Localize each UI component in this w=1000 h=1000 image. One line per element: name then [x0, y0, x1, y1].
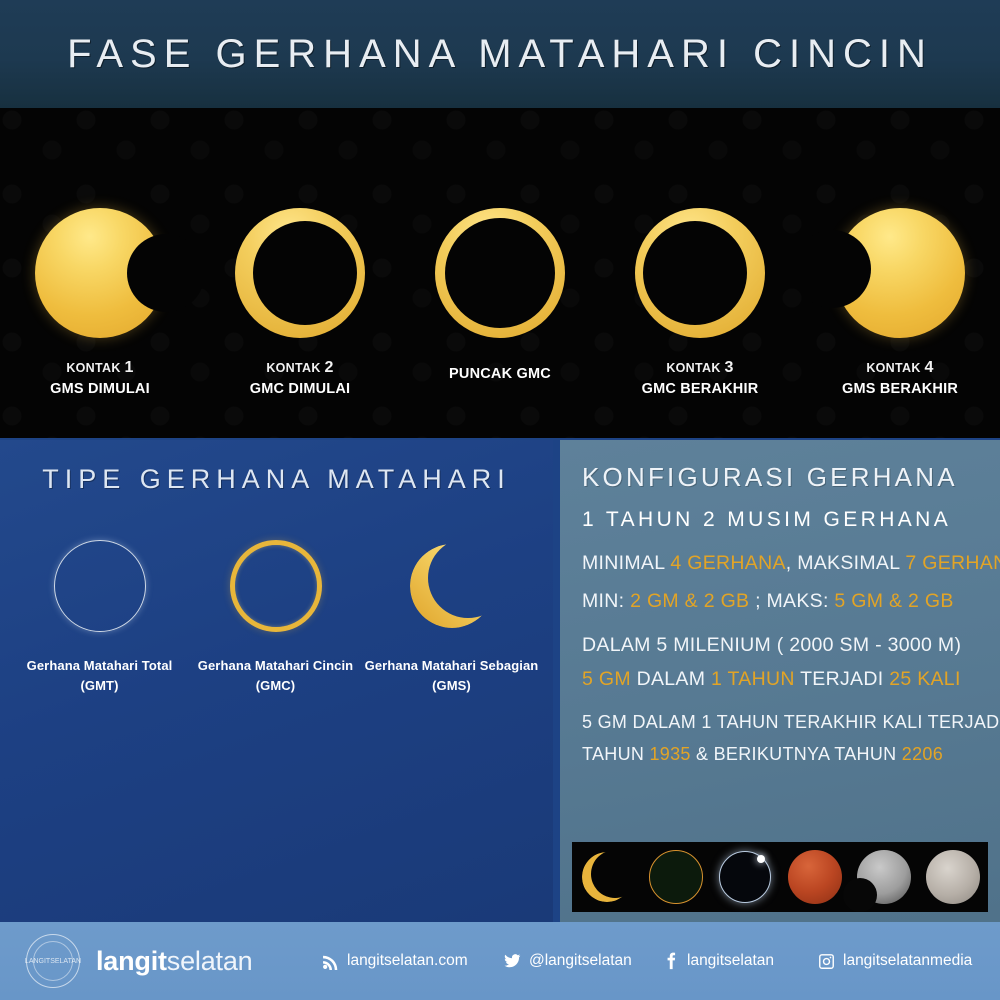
social-facebook-label: langitselatan — [687, 952, 774, 970]
phase-label: GMC BERAKHIR — [642, 379, 759, 400]
eclipse-type-name: Gerhana Matahari Cincin — [198, 656, 353, 676]
photo-partial-solar-crescent — [578, 848, 636, 906]
photo-total-lunar-blood-moon — [786, 848, 844, 906]
config-panel-subtitle: 1 TAHUN 2 MUSIM GERHANA — [582, 508, 951, 532]
gold-crescent-icon — [406, 540, 498, 632]
facebook-icon — [663, 952, 679, 970]
config-line-4: 5 GM DALAM 1 TAHUN TERJADI 25 KALI — [582, 668, 961, 691]
langitselatan-logo-icon: LANGITSELATAN — [26, 934, 80, 988]
phase-label: GMC DIMULAI — [250, 379, 350, 400]
phase-contact-number: 3 — [724, 359, 733, 376]
instagram-icon — [818, 953, 835, 970]
eclipse-phases-strip: KONTAK 1 GMS DIMULAI KONTAK 2 GMC DIMULA… — [0, 108, 1000, 438]
config-line-3: DALAM 5 MILENIUM ( 2000 SM - 3000 M) — [582, 634, 961, 657]
phase-contact-label: KONTAK — [266, 361, 320, 375]
config-line-5: 5 GM DALAM 1 TAHUN TERAKHIR KALI TERJADI — [582, 712, 1000, 734]
photo-full-moon — [924, 848, 982, 906]
phase-contact-number: 1 — [124, 359, 133, 376]
footer-bar: LANGITSELATAN langitselatan langitselata… — [0, 922, 1000, 1000]
brand-light: selatan — [167, 946, 253, 976]
social-instagram-label: langitselatanmedia — [843, 952, 972, 970]
types-panel-title: TIPE GERHANA MATAHARI — [0, 464, 553, 495]
ring-even-icon — [435, 208, 565, 338]
eclipse-type-annular: Gerhana Matahari Cincin (GMC) — [188, 540, 363, 695]
phase-item-1: KONTAK 1 GMS DIMULAI — [0, 108, 200, 438]
phase-contact-number: 4 — [924, 359, 933, 376]
infographic-page: FASE GERHANA MATAHARI CINCIN KONTAK 1 GM… — [0, 0, 1000, 1000]
phase-item-4: KONTAK 3 GMC BERAKHIR — [600, 108, 800, 438]
phase-contact-label: KONTAK — [66, 361, 120, 375]
eclipse-type-abbr: (GMT) — [27, 676, 173, 696]
social-facebook[interactable]: langitselatan — [663, 952, 774, 970]
phase-item-3: PUNCAK GMC — [400, 108, 600, 438]
eclipse-types-panel: TIPE GERHANA MATAHARI Gerhana Matahari T… — [0, 440, 553, 922]
eclipse-configuration-panel: KONFIGURASI GERHANA 1 TAHUN 2 MUSIM GERH… — [560, 440, 1000, 922]
phase-contact-label: KONTAK — [866, 361, 920, 375]
social-website-label: langitselatan.com — [347, 952, 468, 970]
sun-bite-left-icon — [835, 208, 965, 338]
page-title: FASE GERHANA MATAHARI CINCIN — [67, 32, 933, 77]
social-instagram[interactable]: langitselatanmedia — [818, 952, 972, 970]
phase-label: GMS DIMULAI — [50, 379, 150, 400]
eclipse-type-name: Gerhana Matahari Sebagian — [365, 656, 539, 676]
eclipse-type-abbr: (GMS) — [365, 676, 539, 696]
rss-icon — [322, 953, 339, 970]
header-banner: FASE GERHANA MATAHARI CINCIN — [0, 0, 1000, 108]
phase-item-5: KONTAK 4 GMS BERAKHIR — [800, 108, 1000, 438]
social-twitter[interactable]: @langitselatan — [503, 952, 632, 970]
eclipse-type-name: Gerhana Matahari Total — [27, 656, 173, 676]
brand-bold: langit — [96, 946, 167, 976]
config-line-6: TAHUN 1935 & BERIKUTNYA TAHUN 2206 — [582, 744, 943, 766]
photo-total-solar-corona — [716, 848, 774, 906]
sun-bite-right-icon — [35, 208, 165, 338]
social-twitter-label: @langitselatan — [529, 952, 632, 970]
eclipse-photo-strip — [572, 842, 988, 912]
gold-ring-icon — [230, 540, 322, 632]
eclipse-type-abbr: (GMC) — [198, 676, 353, 696]
photo-partial-lunar — [855, 848, 913, 906]
ring-thick-right-icon — [635, 208, 765, 338]
phase-label: PUNCAK GMC — [449, 364, 551, 385]
config-line-2: MIN: 2 GM & 2 GB ; MAKS: 5 GM & 2 GB — [582, 590, 954, 613]
logo-inner-text: LANGITSELATAN — [33, 941, 73, 981]
photo-annular-solar-ring — [647, 848, 705, 906]
twitter-icon — [503, 952, 521, 970]
brand-wordmark: langitselatan — [96, 946, 252, 977]
phase-label: GMS BERAKHIR — [842, 379, 958, 400]
eclipse-type-total: Gerhana Matahari Total (GMT) — [12, 540, 187, 695]
social-website[interactable]: langitselatan.com — [322, 952, 468, 970]
eclipse-type-partial: Gerhana Matahari Sebagian (GMS) — [364, 540, 539, 695]
ring-thick-left-icon — [235, 208, 365, 338]
config-panel-title: KONFIGURASI GERHANA — [582, 462, 958, 493]
phase-item-2: KONTAK 2 GMC DIMULAI — [200, 108, 400, 438]
corona-circle-icon — [54, 540, 146, 632]
config-line-1: MINIMAL 4 GERHANA, MAKSIMAL 7 GERHANA — [582, 552, 1000, 575]
phase-contact-label: KONTAK — [666, 361, 720, 375]
phase-contact-number: 2 — [324, 359, 333, 376]
